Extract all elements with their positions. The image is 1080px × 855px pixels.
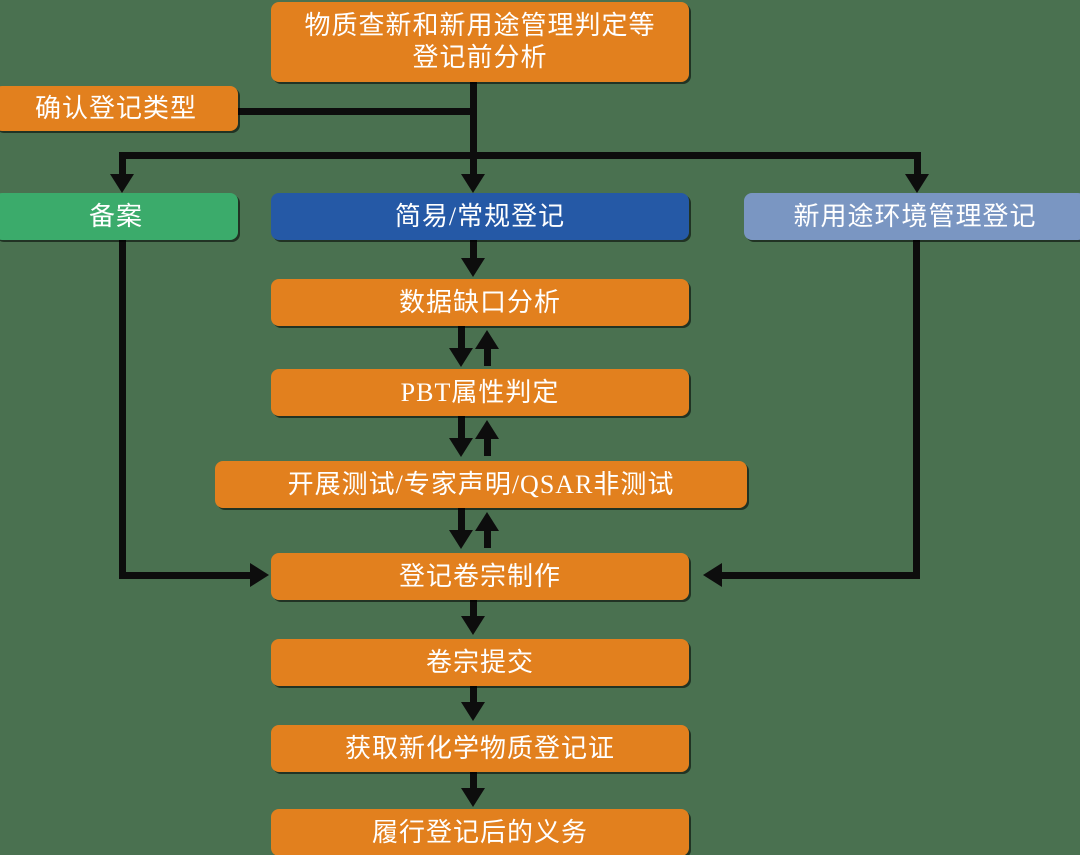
node-obtain-certificate[interactable]: 获取新化学物质登记证: [271, 725, 689, 772]
node-data-gap-analysis-label: 数据缺口分析: [399, 287, 561, 319]
flowchart-canvas: 物质查新和新用途管理判定等 登记前分析 确认登记类型 备案 简易/常规登记 新用…: [0, 0, 1080, 855]
node-data-gap-analysis[interactable]: 数据缺口分析: [271, 279, 689, 326]
arrowhead-to-data-gap: [461, 258, 485, 277]
arrowhead-submit-to-cert: [461, 702, 485, 721]
arrowhead-new-use-to-dossier: [703, 563, 722, 587]
arrowhead-testing-to-pbt: [475, 420, 499, 439]
arrowhead-to-new-use: [905, 174, 929, 193]
connector-branch-bar: [119, 152, 921, 159]
node-filing[interactable]: 备案: [0, 193, 238, 240]
node-confirm-registration-type-label: 确认登记类型: [35, 93, 197, 125]
node-obtain-certificate-label: 获取新化学物质登记证: [345, 733, 615, 765]
node-new-use-environmental-registration-label: 新用途环境管理登记: [793, 201, 1036, 233]
arrowhead-filing-to-dossier: [250, 563, 269, 587]
node-pbt-assessment[interactable]: PBT属性判定: [271, 369, 689, 416]
node-simple-regular-registration[interactable]: 简易/常规登记: [271, 193, 689, 240]
connector-pre-analysis-to-branch-bar: [470, 82, 477, 158]
connector-new-use-down: [913, 240, 920, 575]
node-post-registration-obligations[interactable]: 履行登记后的义务: [271, 809, 689, 855]
connector-filing-right-to-dossier: [119, 572, 254, 579]
node-pre-registration-analysis-line1: 物质查新和新用途管理判定等: [304, 10, 655, 42]
node-dossier-submission[interactable]: 卷宗提交: [271, 639, 689, 686]
node-pre-registration-analysis[interactable]: 物质查新和新用途管理判定等 登记前分析: [271, 2, 689, 82]
node-confirm-registration-type[interactable]: 确认登记类型: [0, 86, 238, 131]
arrowhead-to-simple-regular: [461, 174, 485, 193]
connector-confirm-type-to-trunk: [238, 108, 477, 115]
arrowhead-dossier-to-submit: [461, 616, 485, 635]
node-testing-expert-qsar[interactable]: 开展测试/专家声明/QSAR非测试: [215, 461, 747, 508]
node-dossier-preparation[interactable]: 登记卷宗制作: [271, 553, 689, 600]
node-filing-label: 备案: [89, 201, 143, 233]
connector-new-use-left-to-dossier: [722, 572, 920, 579]
node-dossier-preparation-label: 登记卷宗制作: [399, 561, 561, 593]
connector-filing-down: [119, 240, 126, 575]
arrowhead-testing-to-dossier: [449, 530, 473, 549]
node-new-use-environmental-registration[interactable]: 新用途环境管理登记: [744, 193, 1080, 240]
node-simple-regular-registration-label: 简易/常规登记: [395, 201, 565, 233]
arrowhead-cert-to-obligations: [461, 788, 485, 807]
node-dossier-submission-label: 卷宗提交: [426, 647, 534, 679]
arrowhead-pbt-to-testing: [449, 438, 473, 457]
node-post-registration-obligations-label: 履行登记后的义务: [372, 817, 588, 849]
arrowhead-to-filing: [110, 174, 134, 193]
node-testing-expert-qsar-label: 开展测试/专家声明/QSAR非测试: [288, 469, 675, 501]
arrowhead-data-gap-to-pbt: [449, 348, 473, 367]
node-pbt-assessment-label: PBT属性判定: [401, 377, 560, 409]
arrowhead-dossier-to-testing: [475, 512, 499, 531]
node-pre-registration-analysis-line2: 登记前分析: [412, 42, 547, 74]
arrowhead-pbt-to-data-gap: [475, 330, 499, 349]
